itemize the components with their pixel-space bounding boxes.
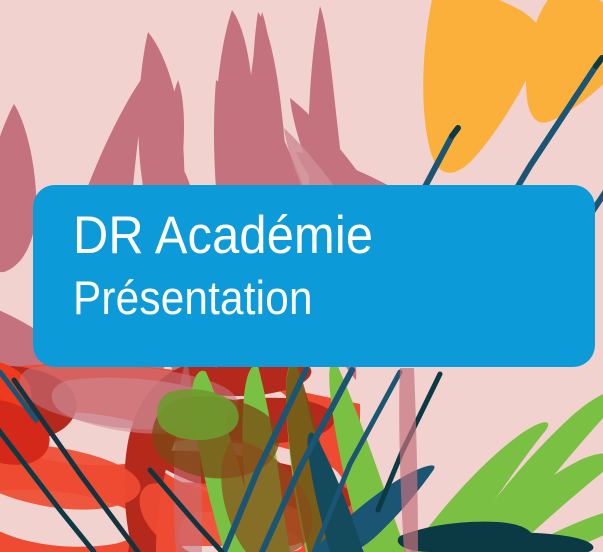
presentation-slide: DR Académie Présentation (0, 0, 603, 552)
page-title: DR Académie (73, 207, 522, 264)
page-subtitle: Présentation (73, 272, 512, 324)
title-card: DR Académie Présentation (33, 185, 595, 367)
